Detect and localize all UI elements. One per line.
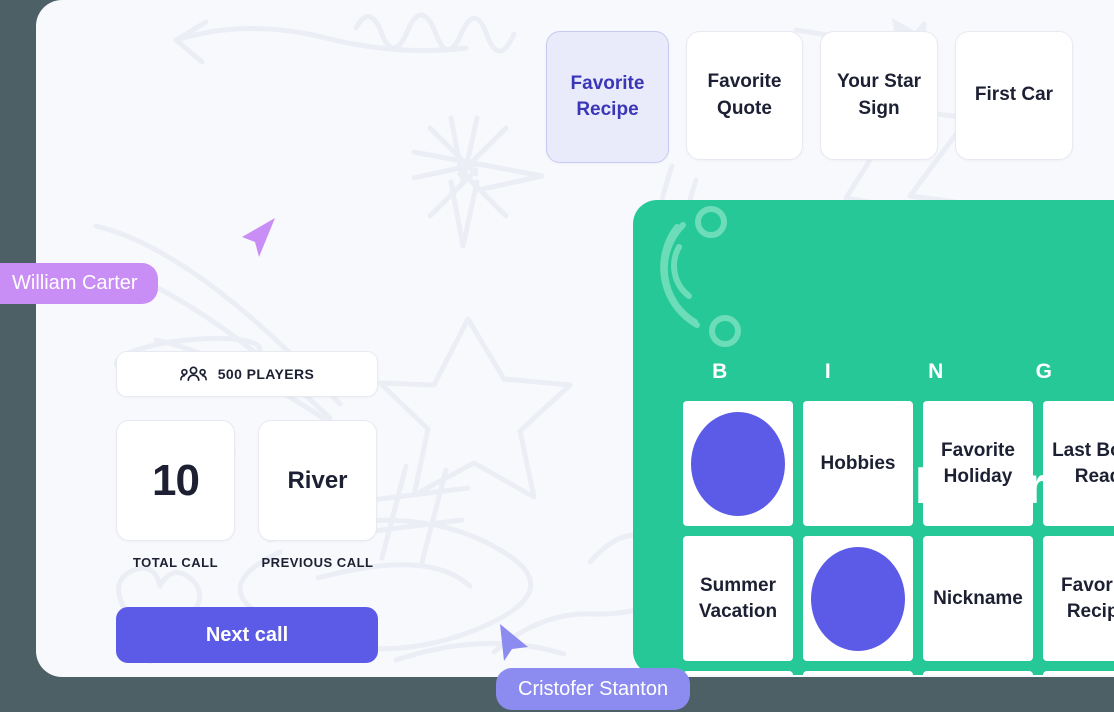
next-call-button[interactable]: Next call xyxy=(116,607,378,663)
bingo-cell-label: Summer Vacation xyxy=(699,573,777,623)
previous-call-value: River xyxy=(287,467,347,495)
topic-tab-your-star-sign[interactable]: Your Star Sign xyxy=(820,31,938,160)
bingo-cell[interactable] xyxy=(803,671,913,675)
bingo-column-header-o: O xyxy=(1098,360,1114,384)
stat-total-call: 10 TOTAL CALL xyxy=(116,420,235,570)
topic-tab-favorite-recipe[interactable]: Favorite Recipe xyxy=(546,31,669,163)
total-call-value: 10 xyxy=(152,456,199,506)
presence-badge-label: Cristofer Stanton xyxy=(518,678,668,701)
presence-badge-label: William Carter xyxy=(12,272,138,295)
presence-badge-cristofer-stanton: Cristofer Stanton xyxy=(496,668,690,710)
topic-tab-label: Favorite Quote xyxy=(708,69,782,121)
bingo-cell[interactable] xyxy=(683,401,793,526)
bingo-cell[interactable] xyxy=(923,671,1033,675)
previous-call-caption: PREVIOUS CALL xyxy=(262,555,374,570)
topic-tab-label: Favorite Recipe xyxy=(571,71,645,123)
call-stats: 10 TOTAL CALL River PREVIOUS CALL xyxy=(116,420,377,570)
bingo-cell[interactable]: Favorite Holiday xyxy=(923,401,1033,526)
cursor-arrow-icon-william xyxy=(242,218,276,258)
topic-tab-first-car[interactable]: First Car xyxy=(955,31,1073,160)
topic-tab-favorite-quote[interactable]: Favorite Quote xyxy=(686,31,803,160)
bingo-marker xyxy=(691,412,785,516)
players-count-label: 500 PLAYERS xyxy=(218,366,315,382)
total-call-box: 10 xyxy=(116,420,235,541)
previous-call-box: River xyxy=(258,420,377,541)
bingo-cell[interactable]: Hobbies xyxy=(803,401,913,526)
cursor-arrow-icon-cristofer xyxy=(499,624,529,662)
topic-tabs: Favorite Recipe Favorite Quote Your Star… xyxy=(546,31,1073,163)
bingo-card: Ice breaker B I N G O Hobbies Favorite H… xyxy=(633,200,1114,675)
bingo-cell[interactable]: Summer Vacation xyxy=(683,536,793,661)
bingo-column-header-b: B xyxy=(666,360,774,384)
bingo-cell-label: Favorite Holiday xyxy=(941,438,1015,488)
bingo-cell[interactable] xyxy=(1043,671,1114,675)
card-decoration xyxy=(633,200,833,380)
players-count-pill[interactable]: 500 PLAYERS xyxy=(116,351,378,397)
bingo-column-header-g: G xyxy=(990,360,1098,384)
bingo-cell-label: Favorite Recipe xyxy=(1061,573,1114,623)
bingo-cell-label: Last Book Read xyxy=(1052,438,1114,488)
bingo-grid: Hobbies Favorite Holiday Last Book Read … xyxy=(683,401,1114,675)
topic-tab-label: First Car xyxy=(975,82,1053,108)
bingo-cell[interactable] xyxy=(683,671,793,675)
users-group-icon xyxy=(180,365,207,383)
bingo-column-header-i: I xyxy=(774,360,882,384)
bingo-cell[interactable]: Nickname xyxy=(923,536,1033,661)
topic-tab-label: Your Star Sign xyxy=(837,69,921,121)
bingo-cell-label: Hobbies xyxy=(821,451,896,476)
bingo-cell-label: Nickname xyxy=(933,586,1023,611)
bingo-cell[interactable] xyxy=(803,536,913,661)
presence-badge-william-carter: William Carter xyxy=(0,263,158,304)
bingo-cell[interactable]: Last Book Read xyxy=(1043,401,1114,526)
bingo-marker xyxy=(811,547,905,651)
bingo-cell[interactable]: Favorite Recipe xyxy=(1043,536,1114,661)
stat-previous-call: River PREVIOUS CALL xyxy=(258,420,377,570)
app-panel: Favorite Recipe Favorite Quote Your Star… xyxy=(36,0,1114,677)
total-call-caption: TOTAL CALL xyxy=(133,555,218,570)
bingo-column-header-n: N xyxy=(882,360,990,384)
bingo-column-headers: B I N G O xyxy=(666,360,1114,384)
